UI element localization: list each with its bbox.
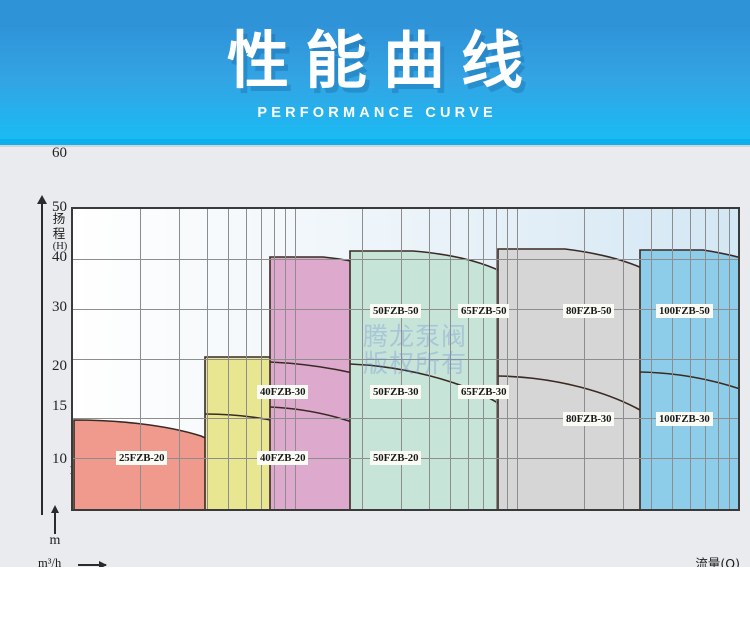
sheet-footer-area: [0, 567, 750, 642]
banner-subtitle: PERFORMANCE CURVE: [253, 105, 497, 121]
gridline-v-500: [672, 209, 673, 509]
x-unit-arrow: [78, 564, 106, 566]
sheet-divider: [0, 145, 750, 147]
curve-25FZB-20: [74, 420, 223, 511]
gridline-h-50: [73, 259, 738, 260]
gridline-v-700: [705, 209, 706, 509]
gridline-v-300: [623, 209, 624, 509]
banner-title: 性能曲线: [211, 28, 539, 93]
region-label-50FZB-50: 50FZB-50: [370, 304, 421, 318]
y-tick-30: 30: [33, 299, 67, 316]
gridline-v-400: [651, 209, 652, 509]
gridline-v-600: [690, 209, 691, 509]
region-label-65FZB-30: 65FZB-30: [458, 385, 509, 399]
gridline-v-40: [429, 209, 430, 509]
gridline-v-5: [228, 209, 229, 509]
y-unit-arrow: [54, 512, 56, 534]
gridline-v-3: [179, 209, 180, 509]
y-tick-50: 50: [33, 199, 67, 216]
gridline-v-60: [468, 209, 469, 509]
y-tick-60: 60: [33, 145, 67, 162]
region-label-65FZB-50: 65FZB-50: [458, 304, 509, 318]
gridline-v-90: [507, 209, 508, 509]
gridline-v-800: [718, 209, 719, 509]
gridline-v-20: [362, 209, 363, 509]
region-label-40FZB-20: 40FZB-20: [257, 451, 308, 465]
gridline-h-20: [73, 418, 738, 419]
gridline-h-30: [73, 359, 738, 360]
gridline-v-200: [584, 209, 585, 509]
gridline-v-70: [483, 209, 484, 509]
region-label-40FZB-30: 40FZB-30: [257, 385, 308, 399]
gridline-v-4: [207, 209, 208, 509]
region-label-100FZB-50: 100FZB-50: [656, 304, 713, 318]
region-label-100FZB-30: 100FZB-30: [656, 412, 713, 426]
y-unit-label: m: [44, 533, 66, 549]
gridline-v-6: [246, 209, 247, 509]
gridline-v-100: [517, 209, 518, 509]
performance-curve-chart: 扬 程 (H) m m³/h 流量(Q) 60 50 40 30 20 15 1…: [0, 145, 750, 642]
gridline-v-900: [729, 209, 730, 509]
plot-area: 腾龙泵阀 版权所有 25FZB-20 40FZB-30 40FZB-20 50F…: [71, 207, 740, 511]
gridline-v-50: [450, 209, 451, 509]
region-label-80FZB-50: 80FZB-50: [563, 304, 614, 318]
y-tick-40: 40: [33, 249, 67, 266]
banner-content: 性能曲线 PERFORMANCE CURVE: [0, 0, 750, 145]
y-tick-20: 20: [33, 358, 67, 375]
band-25FZB-20: [74, 420, 223, 511]
region-label-50FZB-30: 50FZB-30: [370, 385, 421, 399]
region-label-50FZB-20: 50FZB-20: [370, 451, 421, 465]
region-label-80FZB-30: 80FZB-30: [563, 412, 614, 426]
y-tick-15: 15: [33, 398, 67, 415]
y-axis-label-line2: 程: [50, 226, 68, 241]
page-header-banner: 性能曲线 PERFORMANCE CURVE: [0, 0, 750, 145]
gridline-v-80: [496, 209, 497, 509]
region-label-25FZB-20: 25FZB-20: [116, 451, 167, 465]
performance-bands: [73, 209, 740, 511]
